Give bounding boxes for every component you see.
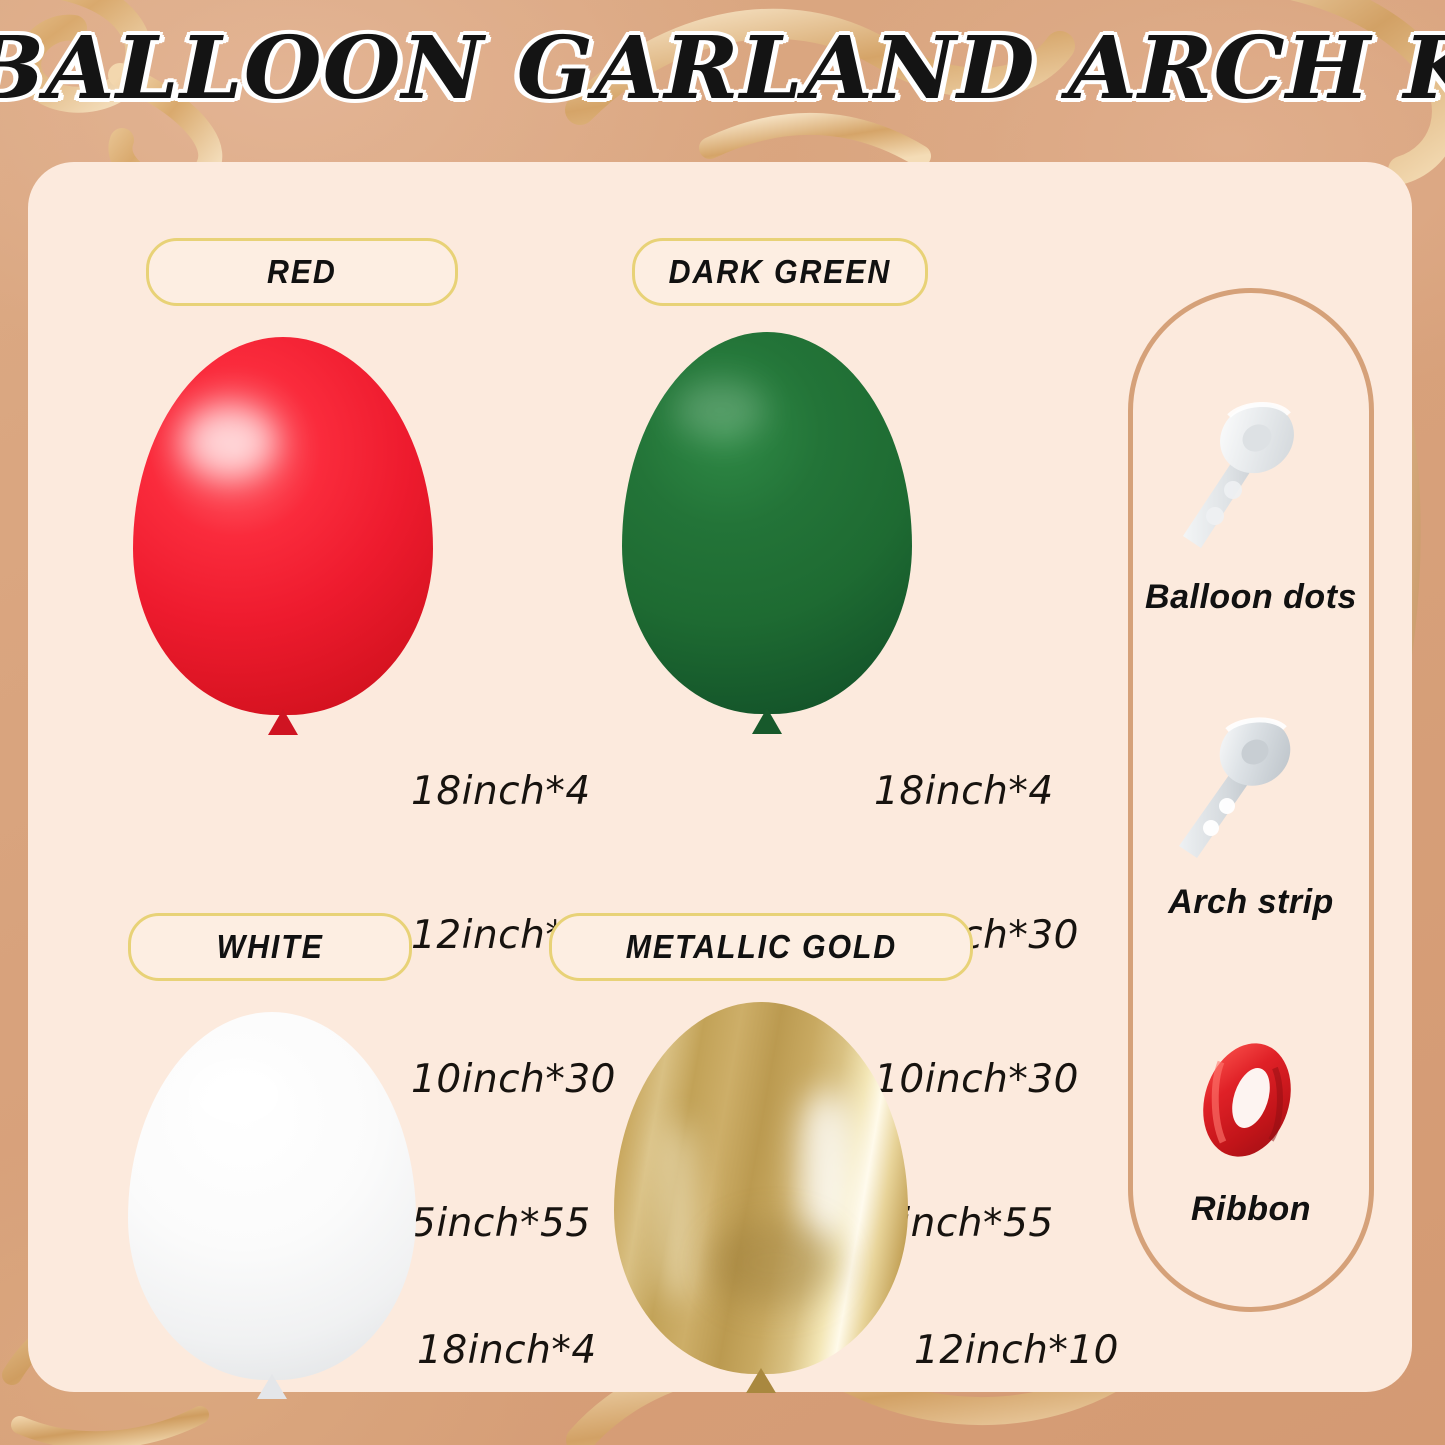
clear-arch-strip-roll-icon: [1171, 700, 1331, 875]
color-label-red: RED: [146, 238, 458, 306]
spec-line: 12inch*10: [914, 1327, 1119, 1375]
balloon-metallic-gold-knot: [746, 1368, 776, 1393]
infographic-root: BALLOON GARLAND ARCH KIT RED 18inch*4 12…: [0, 0, 1445, 1445]
specs-white: 18inch*4 12inch*30 10inch*30 5inch*55: [417, 1231, 622, 1445]
balloon-dark-green: [622, 332, 912, 714]
accessory-ribbon: *2 Ribbon: [1128, 1020, 1374, 1229]
accessory-balloon-dots-name: Balloon dots: [1128, 578, 1374, 617]
color-label-dark-green: DARK GREEN: [632, 238, 928, 306]
color-label-metallic-gold-text: METALLIC GOLD: [625, 928, 896, 966]
color-label-dark-green-text: DARK GREEN: [669, 253, 892, 291]
balloon-white-body: [128, 1012, 416, 1380]
spec-line: 18inch*4: [417, 1327, 622, 1375]
balloon-white-knot: [257, 1374, 287, 1399]
accessory-arch-strip-name: Arch strip: [1128, 883, 1374, 922]
color-label-white: WHITE: [128, 913, 412, 981]
color-label-metallic-gold: METALLIC GOLD: [549, 913, 973, 981]
balloon-dark-green-knot: [752, 708, 782, 734]
page-title: BALLOON GARLAND ARCH KIT: [0, 18, 1445, 119]
spec-line: 10inch*30: [411, 1056, 616, 1104]
red-ribbon-spool-icon: [1171, 1020, 1331, 1180]
balloon-red: [133, 337, 433, 715]
balloon-white: [128, 1012, 416, 1380]
white-tape-roll-icon: [1171, 380, 1331, 570]
balloon-metallic-gold: [614, 1002, 908, 1374]
specs-metallic-gold: 12inch*10 10inch*10 5inch*35: [914, 1231, 1119, 1445]
spec-line: 18inch*4: [411, 768, 616, 816]
page-title-text: BALLOON GARLAND ARCH KIT: [0, 18, 1445, 119]
spec-line: 18inch*4: [874, 768, 1079, 816]
balloon-red-knot: [268, 709, 298, 735]
accessory-balloon-dots: *2 Balloon dots: [1128, 380, 1374, 617]
balloon-dark-green-body: [622, 332, 912, 714]
color-label-white-text: WHITE: [216, 928, 323, 966]
balloon-metallic-gold-body: [614, 1002, 908, 1374]
balloon-red-body: [133, 337, 433, 715]
color-label-red-text: RED: [267, 253, 337, 291]
accessory-ribbon-name: Ribbon: [1128, 1190, 1374, 1229]
accessory-arch-strip: *2 Arch strip: [1128, 700, 1374, 922]
